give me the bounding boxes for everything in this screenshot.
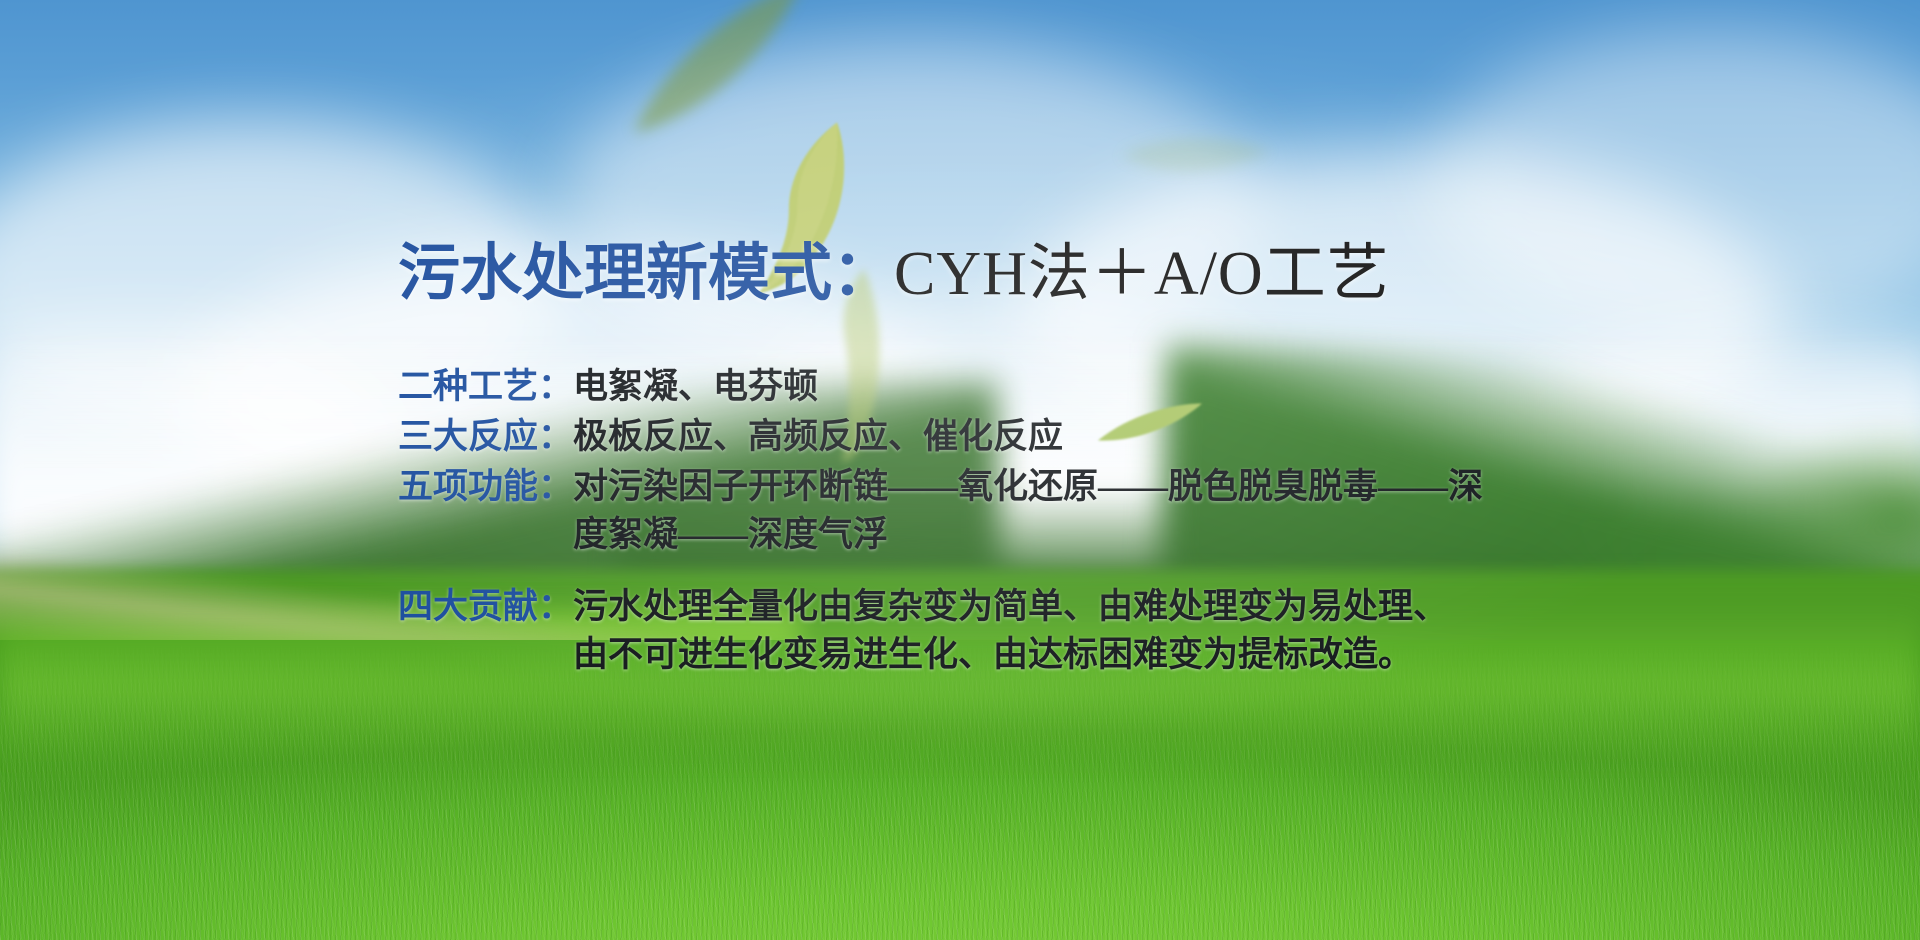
list-item-value-line2: 由不可进生化变易进生化、由达标困难变为提标改造。 <box>573 631 1518 679</box>
list-item-value-line1: 对污染因子开环断链——氧化还原——脱色脱臭脱毒——深 <box>573 467 1483 506</box>
list-item-value: 对污染因子开环断链——氧化还原——脱色脱臭脱毒——深 度絮凝——深度气浮 <box>573 463 1518 559</box>
list-item-label: 二种工艺： <box>398 363 573 411</box>
bullet-list: 二种工艺： 电絮凝、电芬顿 三大反应： 极板反应、高频反应、催化反应 五项功能：… <box>398 363 1518 681</box>
list-item: 三大反应： 极板反应、高频反应、催化反应 <box>398 413 1518 461</box>
list-item-value: 极板反应、高频反应、催化反应 <box>573 413 1518 461</box>
grass-texture <box>0 640 1920 940</box>
list-item-value-line2: 度絮凝——深度气浮 <box>573 511 1518 559</box>
list-item-label: 三大反应： <box>398 413 573 461</box>
page-title: 污水处理新模式：CYH法＋A/O工艺 <box>398 243 1390 305</box>
list-item: 二种工艺： 电絮凝、电芬顿 <box>398 363 1518 411</box>
list-item-value: 电絮凝、电芬顿 <box>573 363 1518 411</box>
list-item-label: 五项功能： <box>398 463 573 511</box>
page-title-cn: 污水处理新模式： <box>398 240 894 308</box>
list-item-label: 四大贡献： <box>398 583 573 631</box>
list-item-value-line1: 电絮凝、电芬顿 <box>573 367 818 406</box>
page-title-en: CYH法＋A/O工艺 <box>894 240 1390 308</box>
list-item-value: 污水处理全量化由复杂变为简单、由难处理变为易处理、 由不可进生化变易进生化、由达… <box>573 583 1518 679</box>
list-item: 四大贡献： 污水处理全量化由复杂变为简单、由难处理变为易处理、 由不可进生化变易… <box>398 583 1518 679</box>
slide-canvas: 污水处理新模式：CYH法＋A/O工艺 二种工艺： 电絮凝、电芬顿 三大反应： 极… <box>0 0 1920 940</box>
list-item-value-line1: 极板反应、高频反应、催化反应 <box>573 417 1063 456</box>
list-item: 五项功能： 对污染因子开环断链——氧化还原——脱色脱臭脱毒——深 度絮凝——深度… <box>398 463 1518 559</box>
list-item-value-line1: 污水处理全量化由复杂变为简单、由难处理变为易处理、 <box>573 587 1448 626</box>
